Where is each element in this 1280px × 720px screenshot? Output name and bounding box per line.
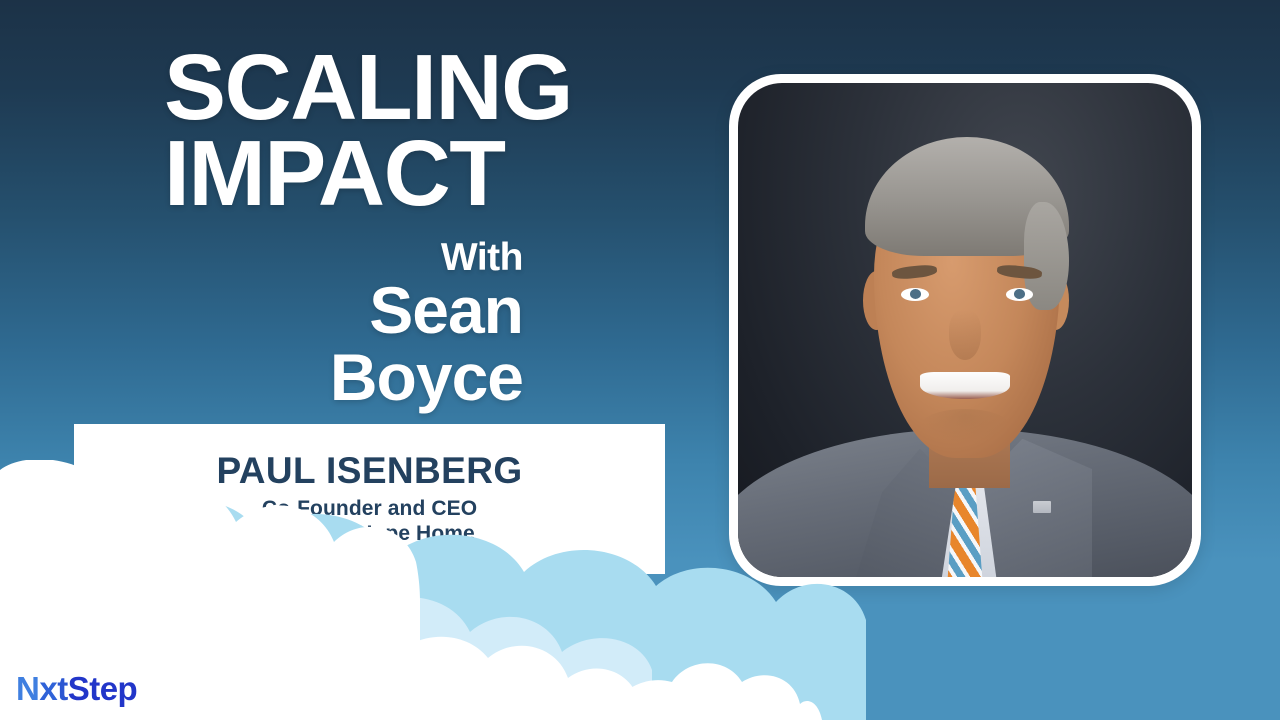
show-title-line-1: SCALING <box>164 44 634 130</box>
host-last-name: Boyce <box>180 344 523 411</box>
show-title: SCALING IMPACT <box>164 44 634 217</box>
guest-role: Co-Founder and CEO <box>262 496 477 522</box>
host-with-label: With <box>180 238 523 277</box>
logo-letter-n: N <box>16 670 39 707</box>
guest-portrait-frame <box>729 74 1201 586</box>
flag-pin-icon <box>1033 501 1051 513</box>
portrait-chin <box>920 409 1011 444</box>
logo-word-step: Step <box>68 670 138 707</box>
thumbnail-canvas: SCALING IMPACT With Sean Boyce PAUL ISEN… <box>0 0 1280 720</box>
portrait-nose <box>949 310 981 359</box>
host-first-name: Sean <box>180 277 523 344</box>
guest-name: PAUL ISENBERG <box>216 451 522 492</box>
show-title-line-2: IMPACT <box>164 130 634 216</box>
guest-organization: Bringing Hope Home <box>264 521 475 547</box>
portrait-iris-left <box>910 289 921 299</box>
portrait-smile <box>920 372 1011 399</box>
guest-info-card: PAUL ISENBERG Co-Founder and CEO Bringin… <box>74 424 665 574</box>
guest-portrait-image <box>738 83 1192 577</box>
logo-letter-x: x <box>39 670 57 707</box>
host-credit: With Sean Boyce <box>180 238 523 412</box>
logo-letter-t: t <box>57 670 68 707</box>
nxtstep-logo[interactable]: NxtStep <box>16 672 137 705</box>
